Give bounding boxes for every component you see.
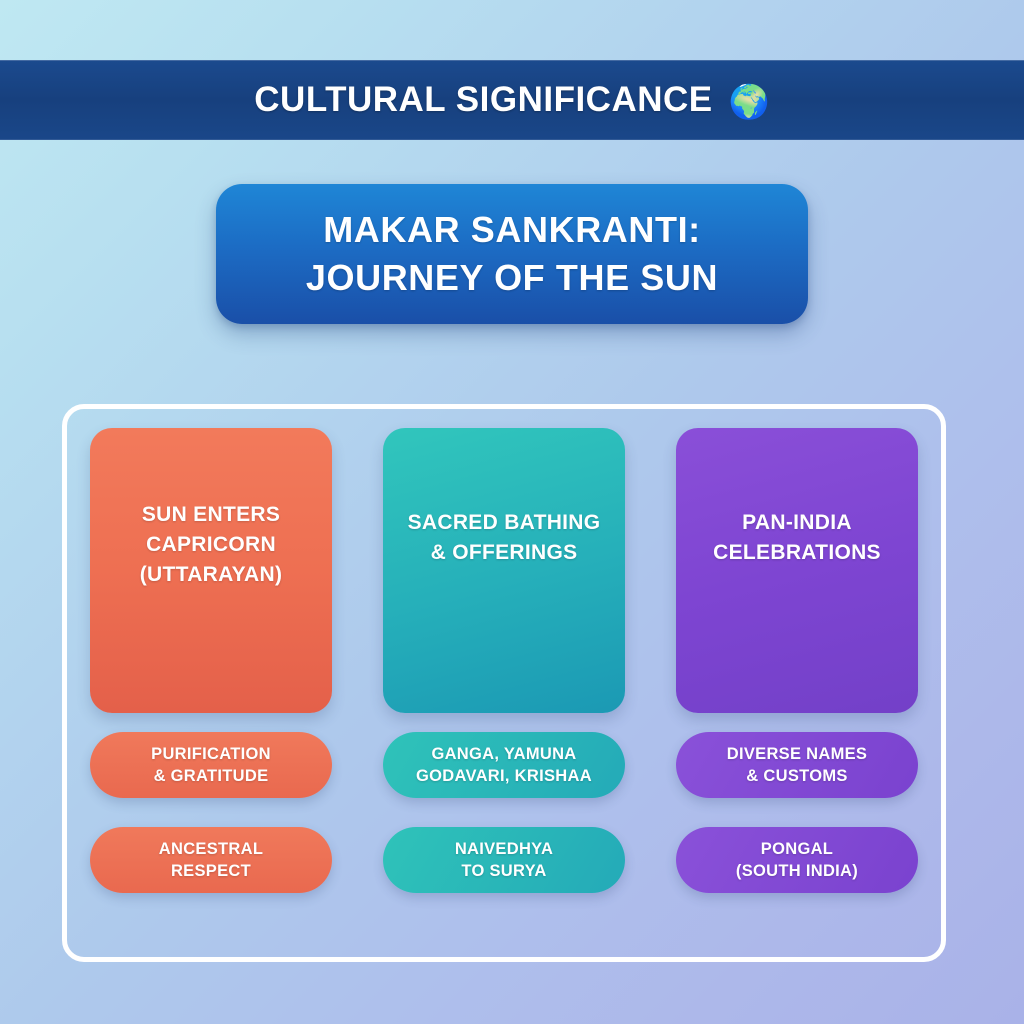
pill-pongal-south-india[interactable]: PONGAL (SOUTH INDIA) (676, 827, 918, 893)
pill-label-line-1: ANCESTRAL (159, 838, 263, 860)
title-card-line-2: JOURNEY OF THE SUN (306, 254, 718, 302)
pill-diverse-names-customs[interactable]: DIVERSE NAMES & CUSTOMS (676, 732, 918, 798)
pill-label: NAIVEDHYA TO SURYA (455, 838, 553, 882)
card-heading-line-1: SACRED BATHING (408, 508, 601, 538)
pill-sacred-rivers[interactable]: GANGA, YAMUNA GODAVARI, KRISHAA (383, 732, 625, 798)
pill-naivedhya-to-surya[interactable]: NAIVEDHYA TO SURYA (383, 827, 625, 893)
pill-label: ANCESTRAL RESPECT (159, 838, 263, 882)
card-sun-enters-capricorn[interactable]: SUN ENTERS CAPRICORN (UTTARAYAN) (90, 428, 332, 713)
infographic-poster: CULTURAL SIGNIFICANCE 🌍 MAKAR SANKRANTI:… (0, 0, 1024, 1024)
pill-label: GANGA, YAMUNA GODAVARI, KRISHAA (416, 743, 592, 787)
pill-label-line-2: & GRATITUDE (151, 765, 271, 787)
pill-label-line-2: RESPECT (159, 860, 263, 882)
card-heading: SACRED BATHING & OFFERINGS (408, 508, 601, 568)
pill-label-line-1: PONGAL (736, 838, 858, 860)
header-banner-inner: CULTURAL SIGNIFICANCE 🌍 (254, 80, 769, 120)
pill-label-line-2: TO SURYA (455, 860, 553, 882)
title-card: MAKAR SANKRANTI: JOURNEY OF THE SUN (216, 184, 808, 324)
card-sacred-bathing-offerings[interactable]: SACRED BATHING & OFFERINGS (383, 428, 625, 713)
column-pan-india-celebrations: PAN-INDIA CELEBRATIONS DIVERSE NAMES & C… (676, 428, 918, 902)
pill-purification-gratitude[interactable]: PURIFICATION & GRATITUDE (90, 732, 332, 798)
card-heading-line-3: (UTTARAYAN) (140, 560, 283, 590)
title-card-line-1: MAKAR SANKRANTI: (323, 206, 701, 254)
card-pan-india-celebrations[interactable]: PAN-INDIA CELEBRATIONS (676, 428, 918, 713)
pill-label-line-2: GODAVARI, KRISHAA (416, 765, 592, 787)
pill-label: DIVERSE NAMES & CUSTOMS (727, 743, 868, 787)
columns-container: SUN ENTERS CAPRICORN (UTTARAYAN) PURIFIC… (62, 404, 946, 962)
column-sacred-bathing-offerings: SACRED BATHING & OFFERINGS GANGA, YAMUNA… (383, 428, 625, 902)
pill-label: PONGAL (SOUTH INDIA) (736, 838, 858, 882)
page-title: CULTURAL SIGNIFICANCE (254, 80, 712, 120)
card-heading-line-2: CELEBRATIONS (713, 538, 881, 568)
card-heading: SUN ENTERS CAPRICORN (UTTARAYAN) (140, 500, 283, 589)
pill-label: PURIFICATION & GRATITUDE (151, 743, 271, 787)
column-sun-enters-capricorn: SUN ENTERS CAPRICORN (UTTARAYAN) PURIFIC… (90, 428, 332, 902)
card-heading-line-2: CAPRICORN (140, 530, 283, 560)
pill-label-line-1: DIVERSE NAMES (727, 743, 868, 765)
card-heading-line-2: & OFFERINGS (408, 538, 601, 568)
header-banner: CULTURAL SIGNIFICANCE 🌍 (0, 60, 1024, 140)
pill-label-line-2: (SOUTH INDIA) (736, 860, 858, 882)
card-heading-line-1: PAN-INDIA (713, 508, 881, 538)
earth-globe-emoji: 🌍 (729, 85, 770, 118)
pill-label-line-2: & CUSTOMS (727, 765, 868, 787)
card-heading-line-1: SUN ENTERS (140, 500, 283, 530)
pill-label-line-1: GANGA, YAMUNA (416, 743, 592, 765)
pill-ancestral-respect[interactable]: ANCESTRAL RESPECT (90, 827, 332, 893)
pill-label-line-1: NAIVEDHYA (455, 838, 553, 860)
card-heading: PAN-INDIA CELEBRATIONS (713, 508, 881, 568)
pill-label-line-1: PURIFICATION (151, 743, 271, 765)
